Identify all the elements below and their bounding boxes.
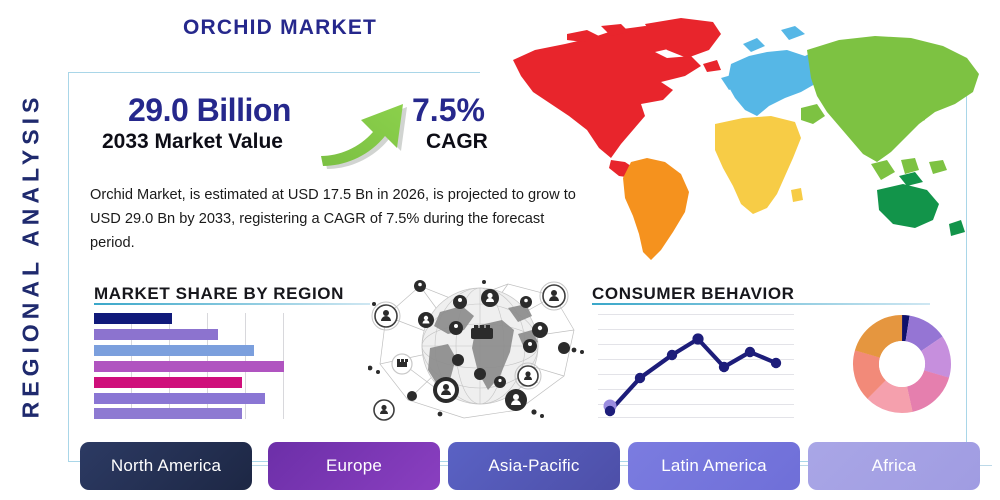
bar-1 <box>94 313 172 324</box>
bar-row <box>94 377 284 388</box>
side-label-text: REGIONAL ANALYSIS <box>18 92 45 418</box>
side-label: REGIONAL ANALYSIS <box>8 60 54 450</box>
global-network-icon <box>368 272 590 424</box>
market-share-header: MARKET SHARE BY REGION <box>94 284 344 304</box>
bar-row <box>94 393 284 404</box>
bar-row <box>94 329 284 340</box>
bar-6 <box>94 393 265 404</box>
world-map-icon <box>495 12 995 267</box>
bar-row <box>94 408 284 419</box>
region-label: Latin America <box>661 456 767 476</box>
region-button-latin-america[interactable]: Latin America <box>628 442 800 490</box>
region-label: Africa <box>872 456 917 476</box>
regional-donut-chart <box>852 308 952 420</box>
infographic-root: REGIONAL ANALYSIS ORCHID MARKET 29.0 Bil… <box>0 0 1000 500</box>
growth-arrow-icon <box>317 82 427 170</box>
cagr-label: CAGR <box>426 130 488 154</box>
market-share-bar-chart <box>94 313 284 419</box>
region-label: Asia-Pacific <box>488 456 579 476</box>
bar-row <box>94 313 284 324</box>
consumer-behavior-rule <box>592 303 930 305</box>
consumer-behavior-header: CONSUMER BEHAVIOR <box>592 284 795 304</box>
region-link <box>250 465 268 466</box>
bar-3 <box>94 345 254 356</box>
region-button-europe[interactable]: Europe <box>268 442 440 490</box>
region-button-asia-pacific[interactable]: Asia-Pacific <box>448 442 620 490</box>
cagr-number: 7.5% <box>412 92 485 129</box>
bar-row <box>94 361 284 372</box>
consumer-behavior-line-chart <box>598 312 794 419</box>
bar-7 <box>94 408 242 419</box>
region-label: North America <box>111 456 221 476</box>
region-button-africa[interactable]: Africa <box>808 442 980 490</box>
market-value-number: 29.0 Billion <box>128 92 291 129</box>
market-value-label: 2033 Market Value <box>102 130 283 154</box>
region-label: Europe <box>326 456 382 476</box>
bar-4 <box>94 361 284 372</box>
page-title: ORCHID MARKET <box>183 16 377 40</box>
bar-5 <box>94 377 242 388</box>
region-button-north-america[interactable]: North America <box>80 442 252 490</box>
bar-2 <box>94 329 218 340</box>
market-share-rule <box>94 303 370 305</box>
bar-row <box>94 345 284 356</box>
